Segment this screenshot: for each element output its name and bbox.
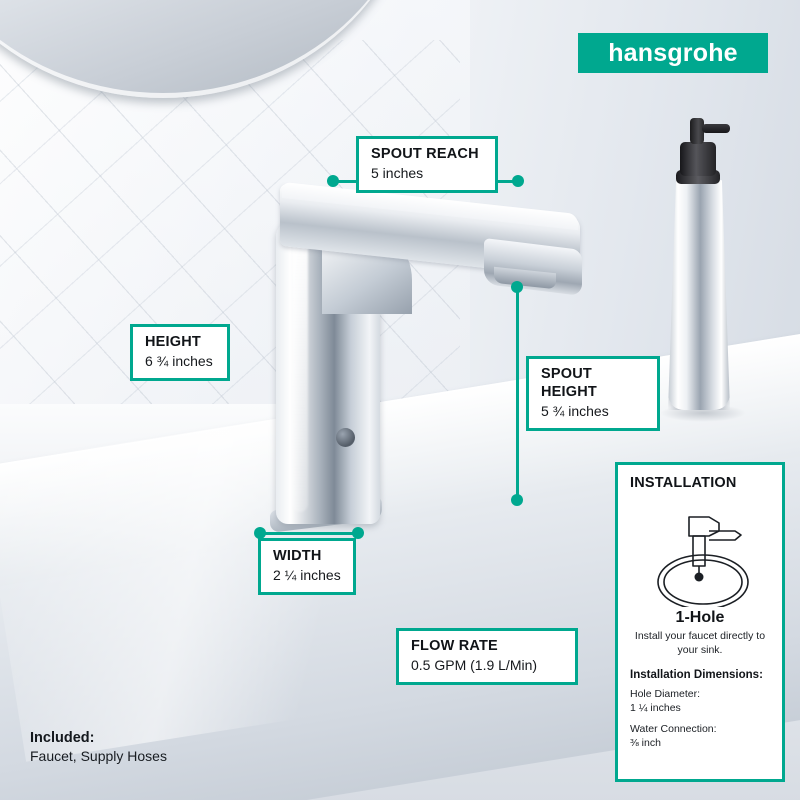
installation-diagram: [630, 495, 770, 607]
dot-spout-height-bottom: [511, 494, 523, 506]
soap-bottle: [668, 180, 730, 410]
logo-text: hansgrohe: [608, 39, 738, 68]
installation-hole-type: 1-Hole: [630, 609, 770, 627]
callout-height-value: 6 ¾ inches: [145, 352, 215, 370]
callout-spout-height-value: 5 ¾ inches: [541, 402, 645, 420]
callout-spout-height: SPOUT HEIGHT 5 ¾ inches: [526, 356, 660, 431]
callout-spout-reach: SPOUT REACH 5 inches: [356, 136, 498, 193]
water-connection-value: ⅜ inch: [630, 736, 770, 750]
callout-spout-reach-title: SPOUT REACH: [371, 145, 483, 163]
included-value: Faucet, Supply Hoses: [30, 748, 167, 764]
dot-spout-height-top: [511, 281, 523, 293]
callout-width-title: WIDTH: [273, 547, 341, 565]
hole-diameter-value: 1 ¼ inches: [630, 701, 770, 715]
callout-spout-reach-value: 5 inches: [371, 164, 483, 182]
soap-dispenser: [668, 118, 748, 448]
callout-flow-rate: FLOW RATE 0.5 GPM (1.9 L/Min): [396, 628, 578, 685]
product-spec-infographic: hansgrohe SPOUT REACH 5 inches HEIGHT 6 …: [0, 0, 800, 800]
one-hole-sink-icon: [630, 495, 776, 607]
callout-width-value: 2 ¼ inches: [273, 566, 341, 584]
installation-title: INSTALLATION: [630, 475, 770, 491]
hansgrohe-logo: hansgrohe: [578, 33, 768, 73]
installation-description: Install your faucet directly to your sin…: [630, 630, 770, 657]
installation-dimensions-heading: Installation Dimensions:: [630, 669, 770, 681]
faucet-sensor-eye: [336, 428, 355, 447]
callout-width: WIDTH 2 ¼ inches: [258, 538, 356, 595]
included-section: Included: Faucet, Supply Hoses: [30, 730, 167, 764]
hole-diameter-label: Hole Diameter:: [630, 687, 770, 701]
soap-collar: [680, 142, 716, 176]
faucet-highlight: [292, 236, 308, 512]
leader-spout-height: [516, 286, 519, 502]
included-title: Included:: [30, 730, 167, 746]
dot-spout-reach-left: [327, 175, 339, 187]
dot-spout-reach-right: [512, 175, 524, 187]
leader-width: [260, 532, 358, 535]
soap-nozzle: [702, 124, 730, 133]
callout-flow-rate-title: FLOW RATE: [411, 637, 563, 655]
callout-height-title: HEIGHT: [145, 333, 215, 351]
callout-flow-rate-value: 0.5 GPM (1.9 L/Min): [411, 656, 563, 674]
water-connection-label: Water Connection:: [630, 722, 770, 736]
installation-panel: INSTALLATION 1-Hole Install your faucet …: [615, 462, 785, 782]
callout-spout-height-title: SPOUT HEIGHT: [541, 365, 645, 401]
callout-height: HEIGHT 6 ¾ inches: [130, 324, 230, 381]
hole-marker: [695, 573, 704, 582]
